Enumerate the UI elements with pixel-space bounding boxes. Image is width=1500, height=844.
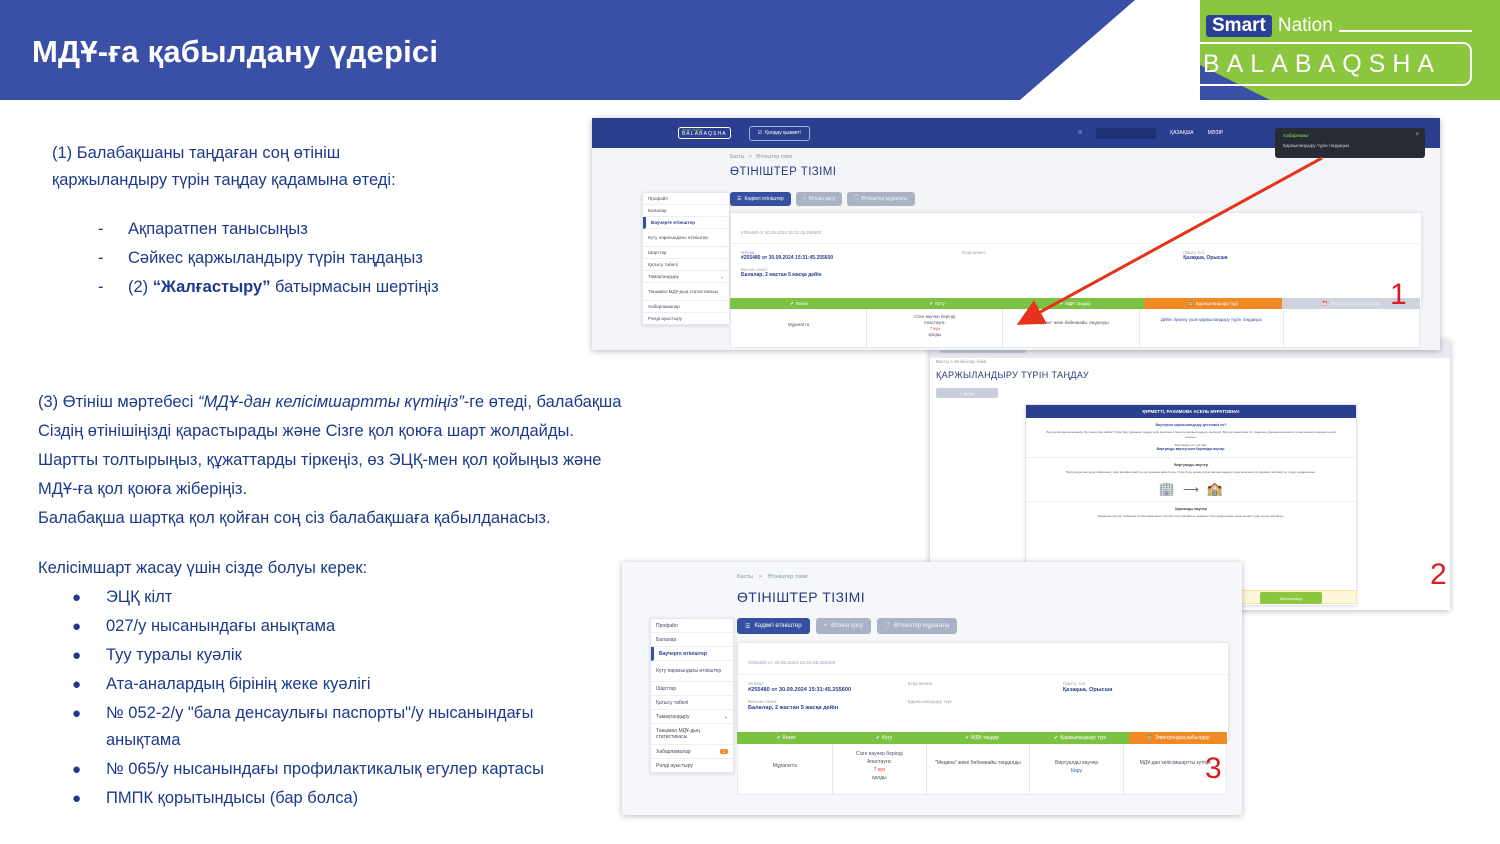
view-voucher-link[interactable]: Көру [1030, 767, 1124, 775]
chevron-down-icon: ⌄ [724, 714, 728, 720]
cell-line4: қалды [833, 774, 927, 782]
step-label: Күту [935, 301, 944, 306]
tab-add-application[interactable]: + Өтініш қосу [796, 192, 842, 206]
field-value-language: Қазақша, Орысша [1063, 687, 1218, 693]
block1-bullet: - Сәйкес қаржыландыру түрін таңдаңыз [52, 245, 592, 272]
block2-line4: МДҰ-ға қол қоюға жіберіңіз. [38, 475, 838, 504]
sidebar-item-children[interactable]: Балалар [643, 205, 729, 217]
sidebar-item-notifications[interactable]: Хабарламалар 1 [651, 745, 733, 759]
step-electronic-admission[interactable]: ⌛Электрондық қабылдау [1129, 732, 1227, 744]
sidebar-item-label: Күту парағындағы өтініштер [648, 235, 708, 241]
sidebar-item-notifications[interactable]: Хабарламалар [643, 301, 729, 313]
field-label-funding-type: Қаржыландыру түрі [908, 700, 1063, 705]
list-item-label: № 052-2/у "бала денсаулығы паспорты"/у н… [106, 700, 598, 754]
tab-regular-applications[interactable]: ☰ Кәдімгі өтініштер [730, 192, 791, 206]
field-label-locality: Елді мекен: [908, 682, 1063, 687]
list-item-label: Туу туралы куәлік [106, 642, 598, 669]
check-icon: ✔ [1054, 735, 1058, 741]
page-heading: ӨТІНІШТЕР ТІЗІМІ [737, 589, 865, 605]
field-value-application: #255480 от 30.09.2024 15:31:45.255600 [748, 687, 908, 693]
list-icon: ☰ [745, 623, 750, 630]
tab-label: Өтініштер мұрағаты [894, 623, 949, 629]
check-icon: ✔ [790, 301, 794, 307]
sidebar-item-label: Тамақтандыру [648, 274, 679, 279]
sidebar-item-voucher-applications[interactable]: Ваучерге өтініштер [643, 217, 729, 229]
sidebar-item-label: Профайл [648, 196, 668, 201]
callout-number-2: 2 [1430, 558, 1447, 592]
sidebar-item-statistics[interactable]: Танымал МДҰ-дың статистикасы [643, 283, 729, 301]
notification-badge: 1 [720, 749, 728, 754]
tab-label: Өтініш қосу [809, 196, 836, 202]
brand-logo: Smart Nation BALABAQSHA [1172, 12, 1472, 88]
bullet-dot: ● [72, 756, 106, 783]
breadcrumb: Басты > Өтініштер тізімі [730, 154, 792, 160]
tab-add-application[interactable]: + Өтініш қосу [816, 618, 871, 634]
step-label: МДҰ таңдау [1065, 301, 1090, 306]
logo-balabaqsha-text: BALABAQSHA [1203, 50, 1441, 79]
menu-button[interactable]: МӘЗІР [1208, 130, 1224, 136]
sidebar-item-label: Тамақтандыру [656, 714, 690, 720]
sidebar-item-label: Профайл [656, 623, 678, 629]
breadcrumb: Басты > Өтініштер тізімі [936, 359, 986, 364]
block2-line2: Сіздің өтінішіңізді қарастырады және Сіз… [38, 417, 838, 446]
plus-icon: + [824, 623, 828, 629]
block2-line1: (3) Өтініш мәртебесі “МДҰ-дан келісімшар… [38, 388, 838, 417]
bullet-dot: ● [72, 700, 106, 754]
chevron-left-icon: ‹ [960, 391, 961, 396]
callout-number-1: 1 [1390, 278, 1407, 312]
toast-text: Қаржыландыру түрін таңдаңыз [1283, 143, 1349, 148]
language-switch[interactable]: ҚАЗАҚША [1170, 130, 1193, 136]
application-card: #255480 от 30.09.2024 15:31:45.255600 Өт… [737, 642, 1229, 740]
logo-smart-text: Smart [1206, 15, 1272, 37]
application-status-block: ✔Кезек ✔Күту ✔МДҰ таңдау ⌛Қаржыландыру т… [730, 298, 1420, 348]
application-ref: #255480 от 30.09.2024 15:31:45.255600 [741, 230, 821, 235]
bullet-text: Сәйкес қаржыландыру түрін таңдаңыз [128, 245, 423, 272]
mini-brand-logo: Smart Nation BALABAQSHA [678, 127, 731, 139]
cell-line1: Сізге ваучер берілді [833, 750, 927, 758]
step-select-kindergarten[interactable]: ✔МДҰ таңдау [1006, 298, 1144, 309]
list-item: ●ПМПК қорытындысы (бар болса) [38, 785, 598, 812]
tab-label: Өтініш қосу [831, 623, 863, 629]
plus-icon: + [803, 196, 806, 202]
sidebar-item-label: Рөлді ауыстыру [648, 316, 682, 321]
section2-body: Виртуалды ваучерді пайдалану үшін арнайы… [1044, 470, 1338, 475]
sidebar-item-meals[interactable]: Тамақтандыру⌄ [651, 710, 733, 724]
cell-archive: Мұрағатта [731, 309, 867, 347]
clock-icon: ⏰ [1322, 301, 1328, 307]
step-label: МДҰ таңдау [971, 735, 999, 741]
sidebar-item-label: Рөлді ауыстыру [656, 763, 693, 769]
tab-applications-archive[interactable]: 🗋 Өтініштер мұрағаты [847, 192, 914, 206]
hourglass-icon: ⌛ [1147, 735, 1153, 741]
app-sidebar[interactable]: Профайл Балалар Ваучерге өтініштер Күту … [642, 192, 730, 325]
cell-selected-kindergarten: "Медина" жеке бөбекжайы таңдалды [927, 744, 1030, 794]
block2-line5: Балабақша шартқа қол қойған соң сіз бала… [38, 504, 838, 533]
sidebar-item-attendance[interactable]: Қатысу табелі [651, 696, 733, 710]
mini-logo-balabaqsha: BALABAQSHA [682, 132, 727, 137]
support-button[interactable]: ☑ Қолдау қызметі [749, 126, 810, 141]
home-icon: 🏢 [1159, 481, 1175, 497]
documents-list: ●ЭЦҚ кілт ●027/у нысанындағы анықтама ●Т… [38, 584, 598, 812]
breadcrumb-current: Өтініштер тізімі [768, 574, 808, 580]
arrow-right-icon: ⟶ [1183, 483, 1199, 496]
sidebar-item-label: Балалар [656, 637, 676, 643]
check-icon: ✔ [929, 301, 933, 307]
step-funding-type[interactable]: ⌛Қаржыландыру түрі [1144, 298, 1282, 309]
field-value-category: Балалар, 2 жастан 5 жасқа дейін [748, 705, 908, 711]
text-block-two: (3) Өтініш мәртебесі “МДҰ-дан келісімшар… [38, 388, 838, 533]
file-icon: 🗋 [885, 621, 890, 631]
sidebar-item-waiting-list[interactable]: Күту парағындағы өтініштер [643, 229, 729, 247]
sidebar-item-attendance[interactable]: Қатысу табелі [643, 259, 729, 271]
step-select-kindergarten[interactable]: ✔МДҰ таңдау [933, 732, 1031, 744]
close-icon[interactable]: × [1415, 132, 1419, 138]
breadcrumb-current: Өтініштер тізімі [756, 154, 792, 160]
section3-body: Қарналды ваучер бойынша сіз балабақшамен… [1044, 514, 1338, 519]
breadcrumb-home[interactable]: Басты [737, 574, 753, 580]
sidebar-item-voucher-applications[interactable]: Ваучерге өтініштер [651, 647, 733, 661]
block2-l1a: (3) Өтініш мәртебесі [38, 393, 198, 411]
bullet-dot: ● [72, 785, 106, 812]
breadcrumb-current: Өтініштер тізімі [954, 359, 986, 364]
screenshot-applications-list-step5[interactable]: Басты > Өтініштер тізімі ӨТІНІШТЕР ТІЗІМ… [622, 562, 1242, 815]
block2-line3: Шартты толтырыңыз, құжаттарды тіркеңіз, … [38, 446, 838, 475]
bullet-bold: “Жалғастыру” [153, 278, 271, 296]
breadcrumb-home[interactable]: Басты [936, 359, 949, 364]
sidebar-item-label: Қатысу табелі [656, 700, 688, 706]
back-button[interactable]: ‹ Артқа [936, 388, 998, 398]
dash-marker: - [98, 274, 128, 301]
toast-title: Хабарлама [1283, 133, 1308, 138]
text-block-three: Келісімшарт жасау үшін сізде болуы керек… [38, 555, 598, 812]
breadcrumb-separator: > [749, 154, 752, 160]
check-icon: ✔ [965, 735, 969, 741]
cell-voucher-issued: Сізге ваучер берілді Апастауға: 7 күн қа… [833, 744, 928, 794]
continue-button[interactable]: Жалғастыру [1260, 592, 1322, 604]
cell-virtual-voucher: Виртуалды ваучер Көру [1030, 744, 1125, 794]
list-item: ● № 052-2/у "бала денсаулығы паспорты"/у… [38, 700, 598, 754]
breadcrumb-separator: > [759, 574, 762, 580]
sidebar-item-waiting-list[interactable]: Күту парағындағы өтініштер [651, 661, 733, 682]
application-ref: #255480 от 30.09.2024 15:31:45.255600 [748, 661, 835, 666]
bullet-dot: ● [72, 671, 106, 698]
list-item: ● № 065/у нысанындағы профилактикалық ег… [38, 756, 598, 783]
bullet-suffix: батырмасын шертіңіз [270, 278, 438, 296]
chevron-down-icon: ⌄ [720, 274, 724, 280]
support-label: Қолдау қызметі [765, 130, 801, 136]
text-block-one: (1) Балабақшаны таңдаған соң өтініш қарж… [52, 140, 592, 303]
block3-intro: Келісімшарт жасау үшін сізде болуы керек… [38, 555, 598, 582]
step-waiting[interactable]: ✔Күту [835, 732, 933, 744]
block1-line2: қаржыландыру түрін таңдау қадамына өтеді… [52, 167, 592, 194]
sidebar-item-label: Шарттар [648, 250, 667, 255]
sidebar-item-label: Танымал МДҰ-дың статистикасы [656, 728, 728, 740]
logo-nation-text: Nation [1278, 15, 1333, 37]
step-label: Қаржыландыру түрі [1060, 735, 1106, 741]
cell-selected-kindergarten: "Медина" жеке бөбекжайы таңдалды [1003, 309, 1139, 347]
step-label: Қаржыландыру түрі [1196, 301, 1238, 306]
list-item-label: ЭЦҚ кілт [106, 584, 598, 611]
block2-l1-italic: “МДҰ-дан келісімшартты күтіңіз” [198, 393, 464, 411]
section3-title: Қарналды ваучер [1044, 507, 1338, 511]
screenshot-applications-list-step4[interactable]: Smart Nation BALABAQSHA ☑ Қолдау қызметі… [592, 118, 1440, 350]
building-icon: 🏫 [1207, 481, 1223, 497]
tab-label: Кәдімгі өтініштер [744, 196, 783, 202]
tab-label: Өтініштер мұрағаты [861, 196, 907, 202]
sidebar-item-label: Ваучерге өтініштер [651, 220, 695, 225]
list-item-label: ПМПК қорытындысы (бар болса) [106, 785, 598, 812]
sidebar-item-switch-role[interactable]: Рөлді ауыстыру [643, 313, 729, 324]
toast-notification[interactable]: Хабарлама Қаржыландыру түрін таңдаңыз × [1275, 128, 1425, 158]
cell-line4: қалды [867, 332, 1002, 338]
cell-select-funding-hint[interactable]: Дейін тіркелу үшін қаржыландыру түрін та… [1140, 309, 1284, 347]
list-icon: ☰ [737, 196, 741, 202]
list-item: ●027/у нысанындағы анықтама [38, 613, 598, 640]
application-card: #255480 от 30.09.2024 15:31:45.255600 Өт… [730, 212, 1422, 308]
check-icon: ✔ [777, 735, 781, 741]
list-item-label: 027/у нысанындағы анықтама [106, 613, 598, 640]
step-label: Электрондық қабылдау [1155, 735, 1210, 741]
field-value-category: Балалар, 2 жастан 5 жасқа дейін [741, 272, 962, 278]
sidebar-item-profile[interactable]: Профайл [643, 193, 729, 205]
sidebar-item-label: Күту парағындағы өтініштер [656, 668, 721, 674]
block1-bullet: - (2) “Жалғастыру” батырмасын шертіңіз [52, 274, 592, 301]
block1-bullet: - Ақпаратпен танысыңыз [52, 216, 592, 243]
step-label: Кезек [796, 301, 808, 306]
sidebar-item-label: Қатысу табелі [648, 262, 678, 267]
tab-label: Кәдімгі өтініштер [754, 623, 801, 629]
step-label: Кезек [783, 735, 796, 741]
block1-line1: (1) Балабақшаны таңдаған соң өтініш [52, 140, 592, 167]
page-heading: ҚАРЖЫЛАНДЫРУ ТҮРІН ТАҢДАУ [936, 370, 1089, 380]
bullet-dot: ● [72, 642, 106, 669]
list-item: ●Ата-аналардың бірінің жеке куәлігі [38, 671, 598, 698]
cell-line1: Виртуалды ваучер [1030, 759, 1124, 767]
bullet-dot: ● [72, 613, 106, 640]
section2-title: Виртуалды ваучер [1044, 463, 1338, 467]
application-status-block: ✔Кезек ✔Күту ✔МДҰ таңдау ✔Қаржыландыру т… [737, 732, 1227, 795]
section1-note2: Виртуалды ваучер және Қарналды ваучер. [1044, 447, 1338, 451]
continue-button-label: Жалғастыру [1280, 596, 1303, 601]
panel-greeting: ҚҰРМЕТТІ, РАХИМОВА АСЕЛЬ МҰРАТОВНА! [1026, 405, 1356, 418]
check-icon: ✔ [1059, 301, 1063, 307]
cell-voucher-issued: Сізге ваучер берілді Апастауға: 7 күн қа… [867, 309, 1003, 347]
section1-title: Ваучерлік қаржыландыру дегеніміз не? [1044, 423, 1338, 427]
sidebar-item-label: Хабарламалар [648, 304, 680, 309]
page-heading: ӨТІНІШТЕР ТІЗІМІ [730, 166, 836, 178]
bullet-dot: ● [72, 584, 106, 611]
bullet-prefix: (2) [128, 278, 153, 296]
tab-applications-archive[interactable]: 🗋 Өтініштер мұрағаты [877, 618, 957, 634]
logo-rule [1339, 30, 1472, 32]
cell-line2: Апастауға: [833, 758, 927, 766]
step-queue[interactable]: ✔Кезек [737, 732, 835, 744]
callout-number-3: 3 [1205, 752, 1222, 786]
dash-marker: - [98, 216, 128, 243]
sidebar-item-statistics[interactable]: Танымал МДҰ-дың статистикасы [651, 724, 733, 745]
location-pin-icon[interactable]: ☉ [1078, 130, 1082, 136]
file-icon: 🗋 [854, 195, 858, 203]
list-item-label: Ата-аналардың бірінің жеке куәлігі [106, 671, 598, 698]
hourglass-icon: ⌛ [1188, 301, 1194, 307]
sidebar-item-meals[interactable]: Тамақтандыру⌄ [643, 271, 729, 283]
sidebar-item-label: Хабарламалар [656, 749, 691, 755]
back-button-label: Артқа [963, 391, 974, 396]
step-queue[interactable]: ✔Кезек [730, 298, 868, 309]
region-select-redacted[interactable] [1096, 128, 1156, 139]
sidebar-item-label: Танымал МДҰ-дың статистикасы [648, 289, 718, 295]
breadcrumb-home[interactable]: Басты [730, 154, 744, 160]
breadcrumb: Басты > Өтініштер тізімі [737, 574, 808, 580]
sidebar-item-profile[interactable]: Профайл [651, 619, 733, 633]
sidebar-item-contracts[interactable]: Шарттар [651, 682, 733, 696]
step-label: Күту [882, 735, 892, 741]
section1-body: Ваучерлік қаржыландыру бұл мектепке дейі… [1044, 430, 1338, 440]
block2-l1b: -ге өтеді, балабақша [464, 393, 622, 411]
support-icon: ☑ [758, 130, 762, 136]
list-item: ●ЭЦҚ кілт [38, 584, 598, 611]
page-header: МДҰ-ға қабылдану үдерісі Smart Nation BA… [0, 0, 1500, 100]
list-item: ●Туу туралы куәлік [38, 642, 598, 669]
step-waiting[interactable]: ✔Күту [868, 298, 1006, 309]
dash-marker: - [98, 245, 128, 272]
sidebar-item-label: Балалар [648, 208, 667, 213]
sidebar-item-switch-role[interactable]: Рөлді ауыстыру [651, 759, 733, 772]
step-label: Электрондық қабылдау [1330, 301, 1380, 306]
step-funding-type[interactable]: ✔Қаржыландыру түрі [1031, 732, 1129, 744]
cell-days-left: 7 күн [833, 766, 927, 774]
tab-regular-applications[interactable]: ☰ Кәдімгі өтініштер [737, 618, 810, 634]
sidebar-item-label: Шарттар [656, 686, 676, 692]
bullet-text: Ақпаратпен танысыңыз [128, 216, 308, 243]
sidebar-item-children[interactable]: Балалар [651, 633, 733, 647]
breadcrumb-separator: > [950, 359, 953, 364]
cell-empty [1284, 309, 1419, 347]
cell-archive: Мұрағатта [738, 744, 833, 794]
sidebar-item-contracts[interactable]: Шарттар [643, 247, 729, 259]
check-icon: ✔ [876, 735, 880, 741]
field-label-locality: Елді мекен: [962, 250, 1183, 255]
bullet-text: (2) “Жалғастыру” батырмасын шертіңіз [128, 274, 439, 301]
field-value-application: #255480 от 30.09.2024 15:31:45.255600 [741, 255, 962, 261]
page-title: МДҰ-ға қабылдану үдерісі [32, 34, 438, 70]
list-item-label: № 065/у нысанындағы профилактикалық егул… [106, 756, 598, 783]
field-value-language: Қазақша, Орысша [1183, 255, 1411, 261]
app-sidebar[interactable]: Профайл Балалар Ваучерге өтініштер Күту … [650, 618, 734, 773]
sidebar-item-label: Ваучерге өтініштер [659, 651, 707, 657]
